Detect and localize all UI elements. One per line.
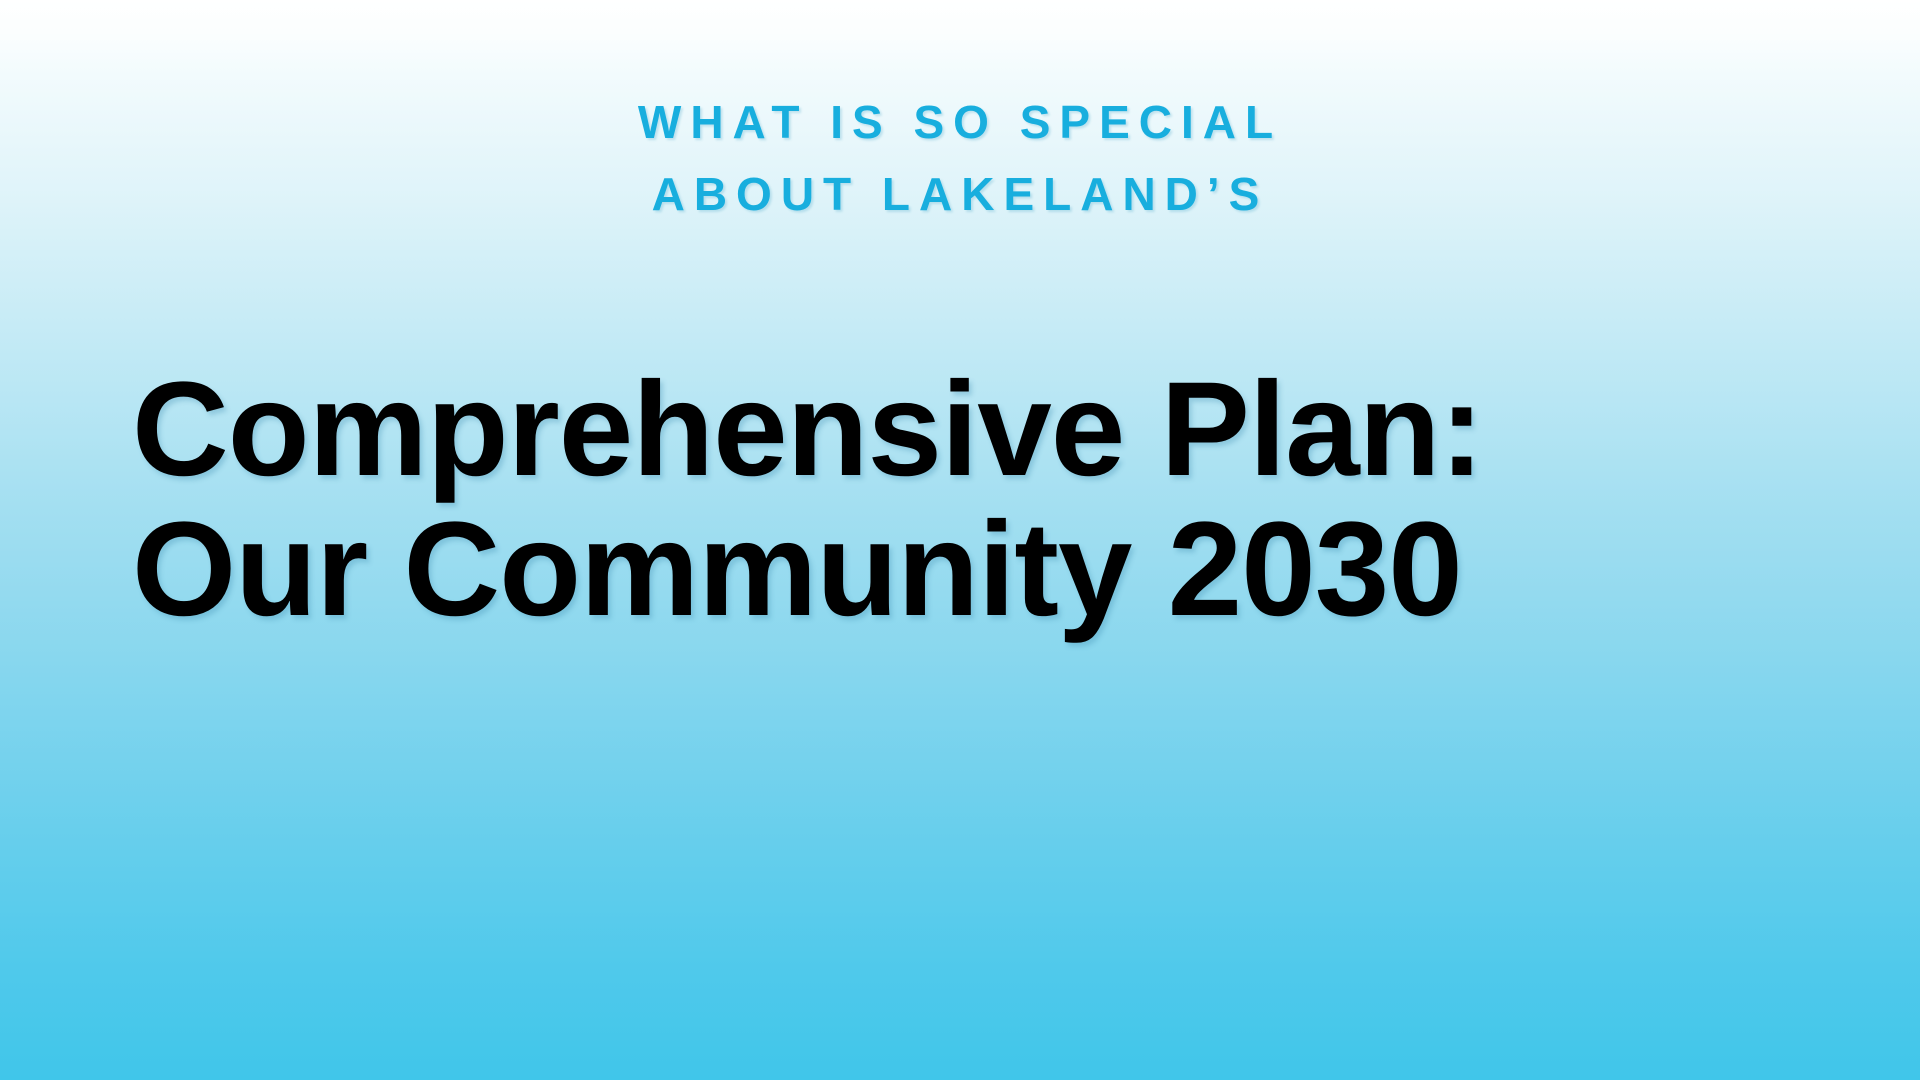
slide-title: Comprehensive Plan: Our Community 2030 — [132, 360, 1832, 640]
headline-line-1: Comprehensive Plan: — [132, 360, 1832, 500]
slide-eyebrow: WHAT IS SO SPECIAL ABOUT LAKELAND’S — [0, 86, 1920, 230]
eyebrow-line-2: ABOUT LAKELAND’S — [0, 158, 1920, 230]
headline-line-2: Our Community 2030 — [132, 500, 1832, 640]
eyebrow-line-1: WHAT IS SO SPECIAL — [0, 86, 1920, 158]
title-slide: WHAT IS SO SPECIAL ABOUT LAKELAND’S Comp… — [0, 0, 1920, 1080]
